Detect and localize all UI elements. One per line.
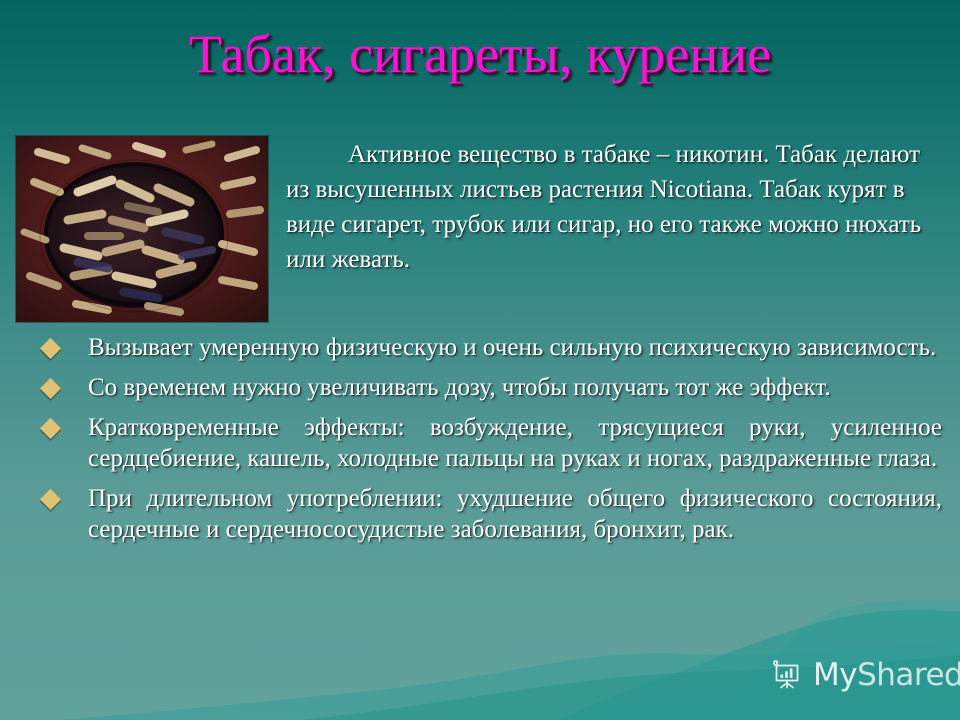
diamond-bullet-icon: [40, 489, 61, 510]
diamond-bullet-icon: [40, 378, 61, 399]
list-item: Вызывает умеренную физическую и очень си…: [30, 332, 942, 363]
slide-title: Табак, сигареты, курение: [0, 26, 960, 83]
bullet-list: Вызывает умеренную физическую и очень си…: [30, 332, 942, 554]
cigarette-butts-photo: [16, 136, 268, 322]
list-item: При длительном употреблении: ухудшение о…: [30, 483, 942, 545]
list-item-text: Кратковременные эффекты: возбуждение, тр…: [88, 412, 942, 474]
list-item-text: Вызывает умеренную физическую и очень си…: [88, 332, 942, 363]
presentation-slide: Табак, сигареты, курение: [0, 0, 960, 720]
brand-my: My: [813, 657, 857, 693]
list-item-text: Со временем нужно увеличивать дозу, чтоб…: [88, 372, 942, 403]
intro-paragraph: Активное вещество в табаке – никотин. Та…: [286, 137, 946, 277]
list-item: Со временем нужно увеличивать дозу, чтоб…: [30, 372, 942, 403]
myshared-brand-text: MyShared: [813, 660, 960, 691]
presentation-board-chart-icon: [770, 658, 804, 692]
list-item-text: При длительном употреблении: ухудшение о…: [88, 483, 942, 545]
list-item: Кратковременные эффекты: возбуждение, тр…: [30, 412, 942, 474]
diamond-bullet-icon: [40, 418, 61, 439]
diamond-bullet-icon: [40, 338, 61, 359]
myshared-watermark: MyShared: [770, 658, 960, 692]
brand-shared: Shared: [857, 657, 960, 693]
